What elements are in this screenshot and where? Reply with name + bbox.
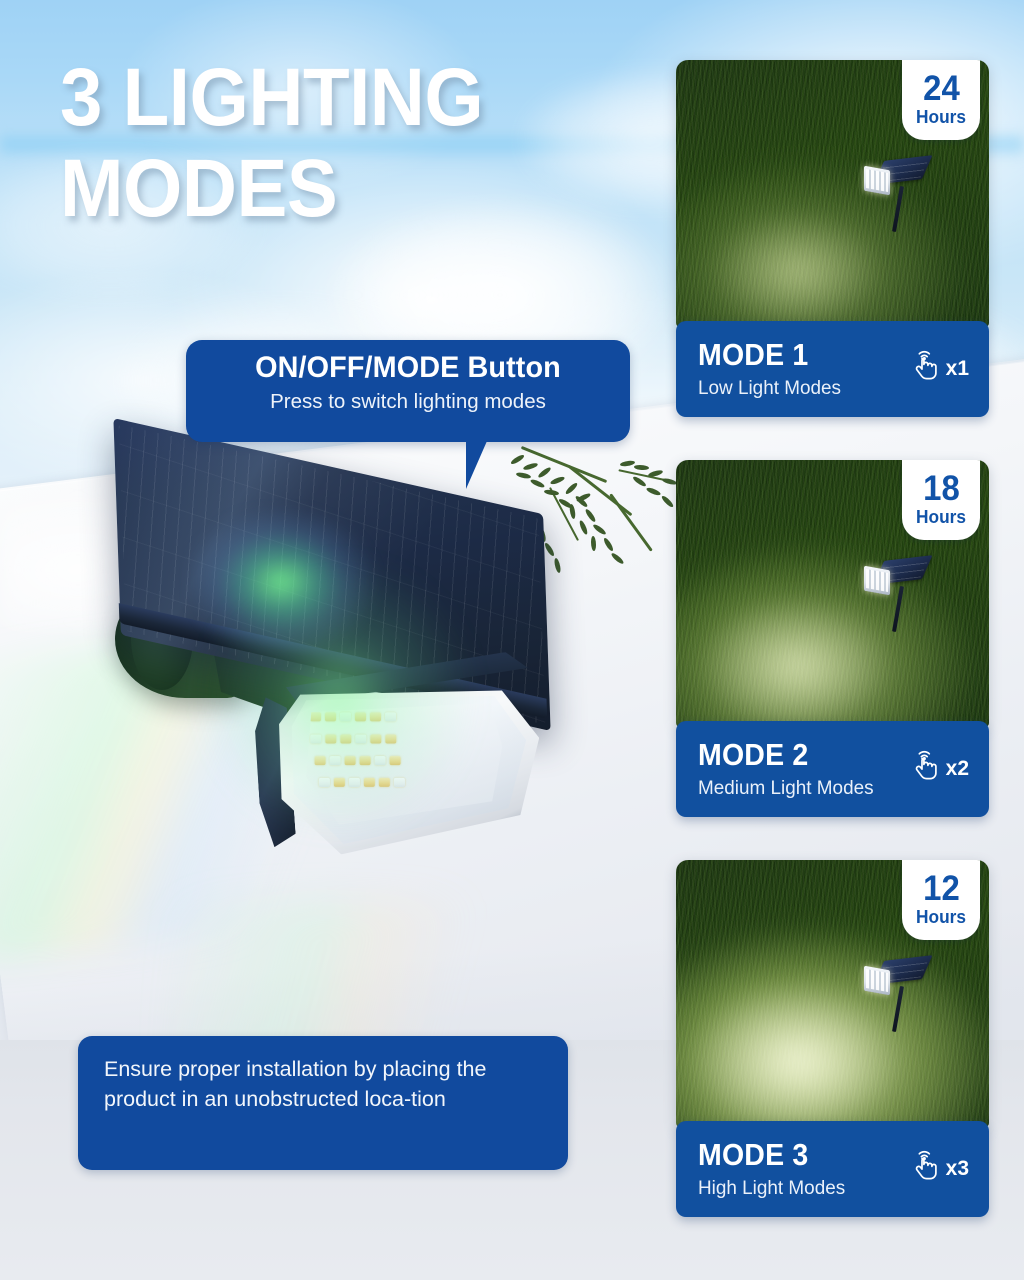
- callout-subtitle: Press to switch lighting modes: [186, 392, 630, 413]
- mode-subtitle: Low Light Modes: [698, 379, 902, 399]
- tap-hand-icon: [909, 349, 943, 390]
- light-beam-core: [696, 595, 896, 727]
- mode-title: MODE 1: [698, 339, 892, 370]
- installation-note-text: Ensure proper installation by placing th…: [78, 1036, 568, 1114]
- hours-value: 24: [923, 73, 960, 105]
- installation-note-box: Ensure proper installation by placing th…: [78, 1036, 568, 1170]
- press-count: x1: [946, 357, 969, 381]
- solar-lamp: [862, 152, 926, 210]
- hours-value: 18: [923, 473, 960, 505]
- lamp-led-head: [864, 166, 890, 196]
- page-title: 3 LIGHTING MODES: [60, 58, 660, 230]
- press-count: x2: [946, 757, 969, 781]
- mode-card: 24 Hours MODE 1 Low Light Modes x1: [676, 60, 989, 417]
- mode-subtitle: High Light Modes: [698, 1179, 902, 1199]
- hours-value: 12: [923, 873, 960, 905]
- hours-badge: 24 Hours: [902, 60, 980, 140]
- mode-photo: 24 Hours: [676, 60, 989, 327]
- hours-badge: 18 Hours: [902, 460, 980, 540]
- hours-label: Hours: [916, 508, 966, 527]
- infographic-canvas: 3 LIGHTING MODES ON/OFF/MODE Button Pres…: [0, 0, 1024, 1280]
- mode-subtitle: Medium Light Modes: [698, 779, 902, 799]
- callout-title: ON/OFF/MODE Button: [195, 353, 621, 383]
- hours-badge: 12 Hours: [902, 860, 980, 940]
- mode-label-bar: MODE 2 Medium Light Modes x2: [676, 721, 989, 817]
- headline-line-1: 3 LIGHTING: [60, 58, 618, 138]
- solar-lamp: [862, 552, 926, 610]
- mode-photo: 18 Hours: [676, 460, 989, 727]
- tap-hand-icon: [909, 749, 943, 790]
- led-light-head: [265, 663, 549, 860]
- mode-card: 18 Hours MODE 2 Medium Light Modes x2: [676, 460, 989, 817]
- solar-lamp: [862, 952, 926, 1010]
- prismatic-lens-flare: [190, 510, 380, 660]
- hours-label: Hours: [916, 108, 966, 127]
- mode-title: MODE 3: [698, 1139, 892, 1170]
- tap-hand-icon: [909, 1149, 943, 1190]
- mode-label-bar: MODE 1 Low Light Modes x1: [676, 321, 989, 417]
- mode-card: 12 Hours MODE 3 High Light Modes x3: [676, 860, 989, 1217]
- onoffmode-callout: ON/OFF/MODE Button Press to switch light…: [186, 340, 630, 442]
- press-count: x3: [946, 1157, 969, 1181]
- lamp-led-head: [864, 966, 890, 996]
- headline-line-2: MODES: [60, 148, 618, 230]
- lamp-led-head: [864, 566, 890, 596]
- mode-title: MODE 2: [698, 739, 892, 770]
- mode-photo: 12 Hours: [676, 860, 989, 1127]
- solar-wall-light-product: [95, 455, 675, 895]
- light-beam-core: [706, 210, 886, 327]
- callout-tail: [466, 441, 495, 489]
- hours-label: Hours: [916, 908, 966, 927]
- mode-label-bar: MODE 3 High Light Modes x3: [676, 1121, 989, 1217]
